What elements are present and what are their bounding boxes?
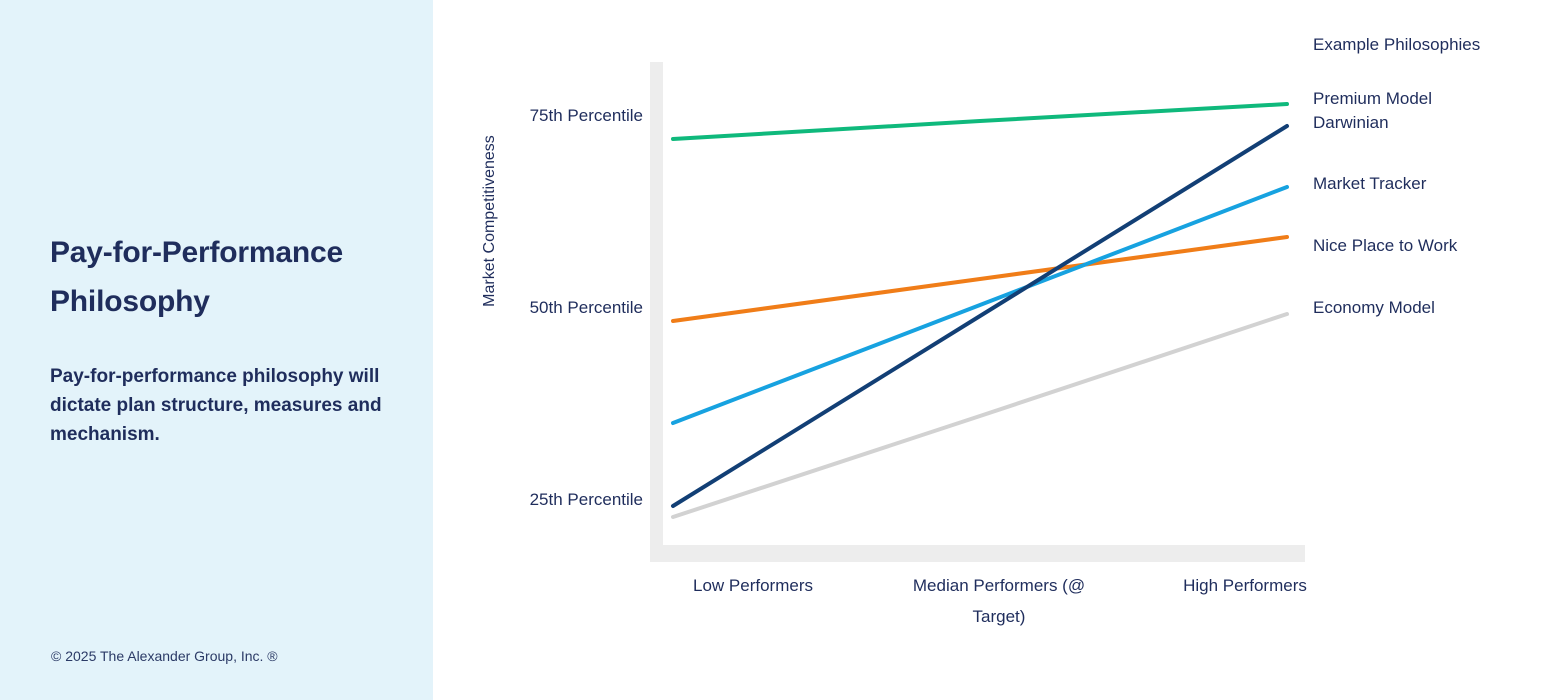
legend-item-premium-model-darwinian[interactable]: Premium Model Darwinian xyxy=(1313,87,1432,135)
legend-heading: Example Philosophies xyxy=(1313,33,1480,57)
copyright-notice: © 2025 The Alexander Group, Inc. ® xyxy=(51,648,278,664)
x-axis-tick-median-performers: Median Performers (@ Target) xyxy=(889,570,1109,632)
x-axis-tick-low-performers: Low Performers xyxy=(643,570,863,601)
legend-item-market-tracker[interactable]: Market Tracker xyxy=(1313,172,1426,196)
slide-root: Pay-for-Performance Philosophy Pay-for-p… xyxy=(0,0,1550,700)
series-line-economy-model xyxy=(673,314,1287,517)
series-line-darwinian xyxy=(673,126,1287,506)
sidebar-description: Pay-for-performance philosophy will dict… xyxy=(50,362,420,449)
series-line-nice-place-to-work xyxy=(673,237,1287,321)
x-axis-band xyxy=(650,545,1305,562)
legend-item-nice-place-to-work[interactable]: Nice Place to Work xyxy=(1313,234,1457,258)
series-line-market-tracker xyxy=(673,187,1287,423)
sidebar-panel: Pay-for-Performance Philosophy Pay-for-p… xyxy=(0,0,433,700)
legend-item-economy-model[interactable]: Economy Model xyxy=(1313,296,1435,320)
series-line-premium-model xyxy=(673,104,1287,139)
y-axis-band xyxy=(650,62,663,562)
page-title: Pay-for-Performance Philosophy xyxy=(50,228,420,326)
x-axis-tick-high-performers: High Performers xyxy=(1135,570,1355,601)
